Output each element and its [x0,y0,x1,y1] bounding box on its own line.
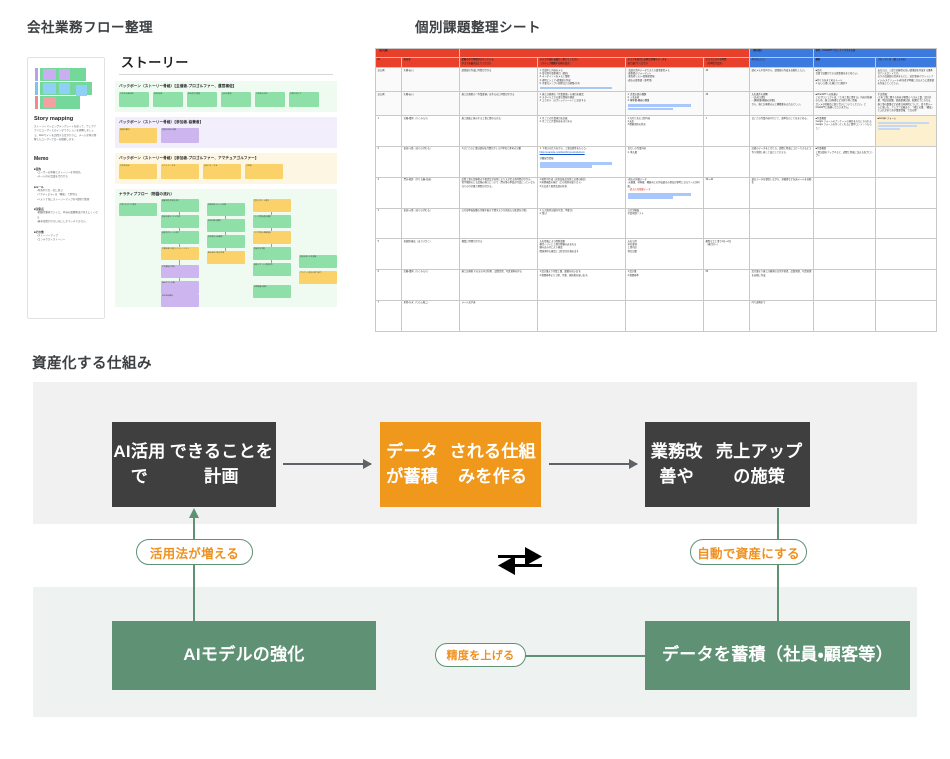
column-header: 概要 [814,57,876,67]
sticky-note[interactable]: 協賛の検討 [119,128,157,143]
narrative-node-text: SNS告知開始 [161,294,199,298]
table-cell[interactable]: 長谷川・第（はりのげわる） [402,208,460,239]
memo-group: ■目的・ユーザーの体験とストーリーを可視化。・チーム内の認識を合わせる [34,167,98,180]
arrow-model-to-plan [193,517,195,629]
table-cell[interactable] [704,208,750,239]
sticky-note[interactable]: 当日の運営 [221,92,251,107]
table-cell[interactable]: ■Google フォーム [876,116,937,147]
narrative-node[interactable]: 参加費の入金確認 [207,235,245,248]
sticky-note-text: 当日の運営 [222,93,250,95]
narrative-node[interactable]: 参加申込フォーム公開 [207,203,245,216]
sticky-note[interactable]: 告知・集客 [153,92,183,107]
issue-sheet-column-row: ID担当者業務の中で時間がかかっているタスクを書き出してくださいタスクの流れを細… [376,57,937,67]
table-cell[interactable] [876,208,937,239]
table-cell[interactable] [876,300,937,331]
sticky-note-text: 次回に向けて [290,93,318,95]
table-cell[interactable]: 近藤・重則（りくみんり） [402,116,460,147]
table-cell[interactable]: 1. 月ごとの作業項目を記載2. 月ごとに作業内容をまとめる [538,116,626,147]
narrative-node-text: 受付・スタート進行 [253,199,291,203]
narrative-node[interactable]: 組み合わせ表の作成 [207,251,245,264]
narrative-connector [225,248,226,251]
swimlane-backbone-3[interactable]: バックボーン（ストーリー骨格）【参加者-プロゴルファー、アマチュアゴルファー】大… [115,153,337,184]
flow-box-action[interactable]: 業務改善や売上アップの施策 [645,422,810,507]
table-row[interactable]: 3漂水・総区（かりも輪・兄弟）品質工事の設備書の手相認定が高符によりスが足る各時… [376,177,937,208]
issue-sheet-body[interactable]: 記入例矢嶋・石川議事録の作成に時間がかかる1. 会議中に内容をメモ2. 形式別や… [376,68,937,331]
sticky-note-text: エントリーする [162,165,197,167]
narrative-node-text: 組み合わせ表の作成 [207,251,245,255]
narrative-connector [179,260,180,265]
narrative-connector [271,244,272,247]
narrative-connector [179,212,180,215]
sticky-note-text: 大会後 [246,165,281,167]
sticky-note-text: 大会の企画・設計 [120,93,148,95]
memo-item: ・最多段階が少ない方にしかマッチできない。 [34,220,98,225]
narrative-connector [225,232,226,235]
swimlane-label: バックボーン（ストーリー骨格）【主催者-プロゴルファー、運営補佐】 [119,84,333,89]
sticky-note-text: 協賛の検討 [120,129,155,131]
narrative-node-text: アンケート集計と振り返り [299,271,337,275]
group-label-solution: 【解決策】 [750,49,814,58]
arrow-plan-to-data [283,463,371,465]
table-cell[interactable]: 施工図面に基のする工事に関わる方法 [460,116,538,147]
story-mapping-info-card: Story mapping ストーリーマッピングテンプレートを使って、ウェブアプ… [27,57,105,319]
sticky-note-text: 当日プレーする [204,165,239,167]
arrow-action-to-store [777,508,779,623]
narrative-node-text: 参加申込フォーム公開 [207,203,245,207]
narrative-node-text: 表彰式の実施 [253,247,291,251]
narrative-node[interactable]: コース管理・進行確認 [253,215,291,228]
table-cell[interactable]: 1. 施工計画書の「作業要領」の項目を確認2. スタイル上での要な情報や調査3.… [538,92,626,116]
narrative-node-text: 競技方式・ルール決定 [161,231,199,235]
table-cell[interactable]: 5 [376,239,402,270]
story-mapping-memo-groups: ■目的・ユーザーの体験とストーリーを可視化。・チーム内の認識を合わせる■ルール・… [34,167,98,243]
narrative-node-text: 申込内容の確認 [207,219,245,223]
table-cell[interactable]: 近藤・重則（りくみんり） [402,270,460,301]
sticky-note[interactable]: 大会の企画・設計 [119,92,149,107]
narrative-node-text: 結果レポート・写真共有 [253,263,291,267]
issue-sheet-table[interactable]: 【記入欄】 【解決策】 参考：ChatGPTプロンプトでできる事 ID担当者業務… [375,48,937,332]
sticky-note[interactable]: 協賛の申込・実施 [161,128,199,143]
narrative-node-text: Webサイト公開 [161,281,199,285]
flow-label-middle: 精度を上げる [435,643,526,667]
table-row[interactable]: 6近藤・重則（りくみんり）施工計画書 その又の中が好用、品間党場、写真管料を作る… [376,270,937,301]
narrative-node-text: 大会コンセプト策定 [119,203,157,207]
table-cell[interactable]: 1. 会議中に内容をメモ2. 形式別や議事項目（要約）3. キーポイントをメモし… [538,68,626,92]
repeat-icon [494,543,546,579]
narrative-node-text: 協賛企業のリスト作成 [161,215,199,219]
table-cell[interactable]: 1.当月と次の工程内容2.天気3.開催場所の状況 [626,116,704,147]
table-cell[interactable] [704,300,750,331]
table-cell[interactable]: 1.設計量より作集工量、課量を初い出す。2.想関基準より工期、月量、規格書を使い… [538,270,626,301]
table-cell[interactable]: 議のメモや音声から、議事録の作成を自動化したい。 [750,68,814,92]
sticky-note-text: 告知・集客 [154,93,182,95]
narrative-node[interactable]: 受付・スタート進行 [253,199,291,212]
memo-group: ■その他・ストーリーマップ・コンテクストストーリー [34,230,98,243]
narrative-connector [225,216,226,219]
table-row[interactable]: 7恵場・万水（てのふ属二）メール文予送内で送興まで [376,300,937,331]
narrative-node[interactable]: 協賛企業のリスト作成 [161,215,199,228]
column-header: やりたいこと [750,57,814,67]
narrative-node[interactable]: 申込内容の確認 [207,219,245,232]
table-cell[interactable]: 1. 下書きの仕方をから、工事記録等をもらう。https://example.c… [538,146,626,177]
swimlane-cards: 協賛の検討協賛の申込・実施 [119,128,333,143]
narrative-connector [271,260,272,263]
sticky-note[interactable]: 申込受付・管理 [187,92,217,107]
table-cell[interactable]: 議事録の作成に時間がかかる [460,68,538,92]
table-cell[interactable] [704,146,750,177]
swimlane-label: バックボーン（ストーリー骨格）【参加者-協賛者】 [119,120,333,125]
table-cell[interactable] [538,300,626,331]
narrative-node[interactable]: Webサイト公開 [161,281,199,294]
table-cell[interactable]: 60 [704,270,750,301]
group-label-record: 【記入欄】 [376,49,460,58]
table-cell[interactable]: 過去データを参照しながら、見積書などを送メールを自動化 [750,177,814,208]
table-cell[interactable]: 記入例 [376,92,402,116]
issue-sheet-panel[interactable]: 【記入欄】 【解決策】 参考：ChatGPTプロンプトでできる事 ID担当者業務… [375,48,936,324]
table-cell[interactable]: -過去の見積データ-元積量、材料費、機器向上の作成過去の参加が参考になるケースが… [626,177,704,208]
sticky-note[interactable]: 大会後 [245,164,283,179]
asset-flow-diagram: AI活用でできることを計画 データが蓄積される仕組みを作る 業務改善や売上アップ… [33,382,917,717]
swimlane-backbone-1[interactable]: バックボーン（ストーリー骨格）【主催者-プロゴルファー、運営補佐】大会の企画・設… [115,81,337,112]
issue-sheet-group-row: 【記入欄】 【解決策】 参考：ChatGPTプロンプトでできる事 [376,49,937,58]
table-cell[interactable]: 2 [376,146,402,177]
narrative-node[interactable]: 予算計画と収支シミュレーション [161,247,199,260]
table-cell[interactable]: 30〜40 [704,177,750,208]
narrative-node[interactable]: 表彰式の実施 [253,247,291,260]
table-cell[interactable]: 矢嶋・石川 [402,68,460,92]
table-cell[interactable] [750,239,814,270]
table-cell[interactable]: 公共形準面配置の労働手続き手間タスクが追加もら監督を示唆） [460,208,538,239]
column-header: 業務の中で時間がかかっているタスクを書き出してください [460,57,538,67]
table-cell[interactable] [814,239,876,270]
sticky-note-text: 協賛の申込・実施 [162,129,197,131]
table-cell[interactable]: 漂水・総区（かりも輪・兄弟） [402,177,460,208]
narrative-node-text: コース管理・進行確認 [253,215,291,219]
table-row[interactable]: 5初島野・藤太（はりさかこ）構業に時間がかかる入札情報により関税資量観音シフトに… [376,239,937,270]
table-cell[interactable]: 4 [376,208,402,239]
story-board-divider [119,74,333,75]
narrative-connector [271,212,272,215]
story-mapping-memo-heading: Memo [34,156,98,162]
table-cell[interactable] [814,177,876,208]
narrative-node[interactable]: アンケート集計と振り返り [299,271,337,284]
group-spacer-red [460,49,750,58]
narrative-connector [179,228,180,231]
table-cell[interactable]: ■作業概要工程記録をアップすると、週間工程表に記入る各プロンプト [814,146,876,177]
narrative-node-text: 開催日程・会場の決定 [161,199,199,203]
page-title-business-flow: 会社業務フロー整理 [27,16,153,36]
flow-box-plan[interactable]: AI活用でできることを計画 [112,422,276,507]
narrative-connector [271,228,272,231]
table-cell[interactable]: 施工計画書の「作業要領」を作るのに時間がかかる [460,92,538,116]
narrative-node[interactable]: 次回開催の検討 [253,285,291,298]
narrative-node[interactable]: 大会コンセプト策定 [119,203,157,216]
table-cell[interactable]: 構業に時間がかかる [460,239,538,270]
narrative-flow-area[interactable]: ナラティブフロー（物語の流れ） 大会コンセプト策定開催日程・会場の決定協賛企業の… [115,189,337,307]
memo-item: ・網羅性重視でいくと、本当の課題解決が見えにくくなる [34,211,98,220]
table-cell[interactable]: ■目的会議で話題ができる議事録をまとめたい。■作り方をまとめるルール1. おいう… [814,68,876,92]
table-cell[interactable]: 日だしの作業内容2. 導入量 [626,146,704,177]
sticky-note[interactable]: エントリーする [161,164,199,179]
table-row-example[interactable]: 記入例矢嶋・石川議事録の作成に時間がかかる1. 会議中に内容をメモ2. 形式別や… [376,68,937,92]
narrative-node[interactable]: 大会要項の作成 [161,265,199,278]
table-cell[interactable]: 観覧など工事で1日〜2日（項目分一） [704,239,750,270]
narrative-node-text: 予算計画と収支シミュレーション [161,247,199,251]
flow-label-right: 自動で資産にする [690,539,807,565]
narrative-node[interactable]: スコア集計・速報配信 [253,231,291,244]
table-cell[interactable]: あなたは、三度で回帰性の高い議事録を作成する優秀なアシスタントです。以下の会議録… [876,68,937,92]
table-cell[interactable]: 1. 公共形状記録が写真、甲要が）2. 集計 [538,208,626,239]
table-cell[interactable]: 1 [704,116,750,147]
table-cell[interactable]: メール文予送 [460,300,538,331]
table-cell[interactable]: 1. 企業の図の種類2. 人名出荷3. 解体量・機器の種量 [626,92,704,116]
table-cell[interactable]: ■ChatGPTへの依頼いこのプロジェクトは、「土木工事に関する」内容が依頼のた… [814,92,876,116]
table-cell[interactable]: 日ごとの作業内容や月ごと、週単位のことをまとめる。 [750,116,814,147]
table-cell[interactable]: 30 [704,92,750,116]
narrative-flow-label: ナラティブフロー（物語の流れ） [119,192,333,197]
table-row[interactable]: 4長谷川・第（はりのげわる）公共形準面配置の労働手続き手間タスクが追加もら監督を… [376,208,937,239]
column-header: プロンプト文（使ったもの） [876,57,937,67]
table-cell[interactable] [814,208,876,239]
narrative-node[interactable]: 競技方式・ルール決定 [161,231,199,244]
table-row[interactable]: 1近藤・重則（りくみんり）施工図面に基のする工事に関わる方法1. 月ごとの作業項… [376,116,937,147]
narrative-node-text: 次回開催の検討 [253,285,291,289]
page-title-issue-sheet: 個別課題整理シート [415,16,541,36]
table-cell[interactable] [876,270,937,301]
memo-group: ■ルール・時系列で左→右に並ぶ・アクティビティは「機能」で区切る・ペルソナ毎にス… [34,185,98,203]
table-cell[interactable]: 入札情報により関税資量観音シフトに工期が開催み込まれる願み込み月により検査関係書… [538,239,626,270]
table-cell[interactable]: 3 [376,177,402,208]
sticky-note[interactable]: 次回に向けて [289,92,319,107]
story-mapping-card-paragraph: ストーリーマッピングテンプレートを使って、ウェブアプリとユーザーとのインタラクシ… [34,125,98,143]
narrative-node[interactable]: 開催日程・会場の決定 [161,199,199,212]
table-cell[interactable] [876,239,937,270]
sticky-note-text: 申込受付・管理 [188,93,216,95]
table-cell[interactable]: 記入例 [376,68,402,92]
swimlane-label: バックボーン（ストーリー骨格）【参加者-プロゴルファー、アマチュアゴルファー】 [119,156,333,161]
sticky-note[interactable]: 大会後の対応 [255,92,285,107]
column-header: タスクにかかる時間（分単位で記入） [704,57,750,67]
story-mapping-card-title: Story mapping [34,116,98,122]
table-cell[interactable]: 7 [376,300,402,331]
narrative-node-text: 参加費の入金確認 [207,235,245,239]
issue-sheet-header: 【記入欄】 【解決策】 参考：ChatGPTプロンプトでできる事 ID担当者業務… [376,49,937,68]
table-cell[interactable] [814,300,876,331]
table-cell[interactable]: 公共労働価写真管理ソフト [626,208,704,239]
table-cell[interactable]: 記録のデータを上げたら、週間工程表にコピーできるよう作り管理し直して試だして行き… [750,146,814,177]
table-cell[interactable]: 内で送興まで [750,300,814,331]
table-cell[interactable]: 入札条件の理解-【入札公開】-【解析量・機器の詳量】から、施工計画書の以上機種要… [750,92,814,116]
flow-box-model[interactable]: AIモデルの強化 [112,621,376,690]
sticky-note-text: 大会後の対応 [256,93,284,95]
table-cell[interactable]: 手法情報：・土木工事に関する内容が相関くべき以上数、設計分量、明記記録量、図面要… [876,92,937,116]
group-label-prompt-ref: 参考：ChatGPTプロンプトでできる事 [814,49,937,58]
narrative-connector [179,278,180,281]
page-title-asset-mechanism: 資産化する仕組み [32,352,152,373]
table-cell[interactable]: 初島野・藤太（はりさかこ） [402,239,460,270]
story-board-heading: ストーリー [121,52,337,71]
sticky-note[interactable]: 大会を知る [119,164,157,179]
table-cell[interactable]: 設け量より施工計画書の日余写管場、品質管理、写真管理を自動に作成 [750,270,814,301]
table-row[interactable]: 2長谷川・第（はりのげわる）1.日ごとの工事記録を毎月間がかしら月単位と進めの分… [376,146,937,177]
table-row-example[interactable]: 記入例矢嶋・石川施工計画書の「作業要領」を作るのに時間がかかる1. 施工計画書の… [376,92,937,116]
table-cell[interactable] [750,208,814,239]
memo-item: ・コンテクストストーリー [34,238,98,243]
swimlane-backbone-2[interactable]: バックボーン（ストーリー骨格）【参加者-協賛者】協賛の検討協賛の申込・実施 [115,117,337,148]
table-cell[interactable]: 入札公用申位要項工事内記得日記量 [626,239,704,270]
table-cell[interactable]: 恵場・万水（てのふ属二） [402,300,460,331]
table-cell[interactable]: 1 [376,116,402,147]
memo-item: ・チーム内の認識を合わせる [34,175,98,180]
narrative-node-text: 協賛企業へお礼連絡 [299,255,337,259]
narrative-node[interactable]: 結果レポート・写真共有 [253,263,291,276]
memo-item: ・ペルソナ毎にストーリーマップを3段階で整理 [34,198,98,203]
table-cell[interactable] [876,146,937,177]
narrative-connector [179,244,180,247]
story-swimlanes: バックボーン（ストーリー骨格）【主催者-プロゴルファー、運営補佐】大会の企画・設… [115,81,337,184]
table-cell[interactable]: 矢嶋・石川 [402,92,460,116]
table-cell[interactable]: ■作業概要Google フォームのアンケートの項目を与えに与られるGoogle … [814,116,876,147]
story-board-canvas[interactable]: ストーリー バックボーン（ストーリー骨格）【主催者-プロゴルファー、運営補佐】大… [115,48,337,320]
table-cell[interactable]: 1.設計量2.想関基準 [626,270,704,301]
flow-label-left: 活用法が増える [136,539,253,565]
table-cell[interactable]: 6 [376,270,402,301]
column-header: ID [376,57,402,67]
swimlane-cards: 大会を知るエントリーする当日プレーする大会後 [119,164,333,179]
swimlane-cards: 大会の企画・設計告知・集客申込受付・管理当日の運営大会後の対応次回に向けて [119,92,333,107]
table-cell[interactable]: -会議の音声データできたら議事要旨メモ-議事録のフォーマット-参加者リスト・役職… [626,68,704,92]
memo-group: ■注意点・網羅性重視でいくと、本当の課題解決が見えにくくなる・最多段階が少ない方… [34,207,98,225]
narrative-node[interactable]: 協賛企業へお礼連絡 [299,255,337,268]
table-cell[interactable]: 施工計画書 その又の中が好用、品間党場、写真管料を作る [460,270,538,301]
narrative-node[interactable]: SNS告知開始 [161,294,199,307]
sticky-note[interactable]: 当日プレーする [203,164,241,179]
story-mapping-thumbnail-icon [35,68,97,110]
table-cell[interactable]: 30 [704,68,750,92]
column-header: タスクを実行に必要な情報やデータを全てあげてください [626,57,704,67]
flow-box-data[interactable]: データが蓄積される仕組みを作る [380,422,541,507]
table-cell[interactable] [626,300,704,331]
table-cell[interactable]: 1.現場や作成（見掛品基品次第工法書の確定）2.担理基数の基定（どの場所を掘りカ… [538,177,626,208]
arrow-data-to-action [549,463,637,465]
story-mapping-panel: Story mapping ストーリーマッピングテンプレートを使って、ウェブアプ… [27,48,337,320]
table-cell[interactable]: 長谷川・第（はりのげわる） [402,146,460,177]
table-cell[interactable] [814,270,876,301]
narrative-node-text: 大会要項の作成 [161,265,199,269]
column-header: 担当者 [402,57,460,67]
table-cell[interactable]: 1.日ごとの工事記録を毎月間がかしら月単位と進めの分量 [460,146,538,177]
narrative-node-text: スコア集計・速報配信 [253,231,291,235]
sticky-note-text: 大会を知る [120,165,155,167]
column-header: タスクの流れを細かく教えてください（ステップ順番や分担も記入） [538,57,626,67]
table-cell[interactable]: 品質工事の設備書の手相認定が高符によりスが足る各時間がかから。管字関係のにも設備… [460,177,538,208]
table-cell[interactable] [876,177,937,208]
